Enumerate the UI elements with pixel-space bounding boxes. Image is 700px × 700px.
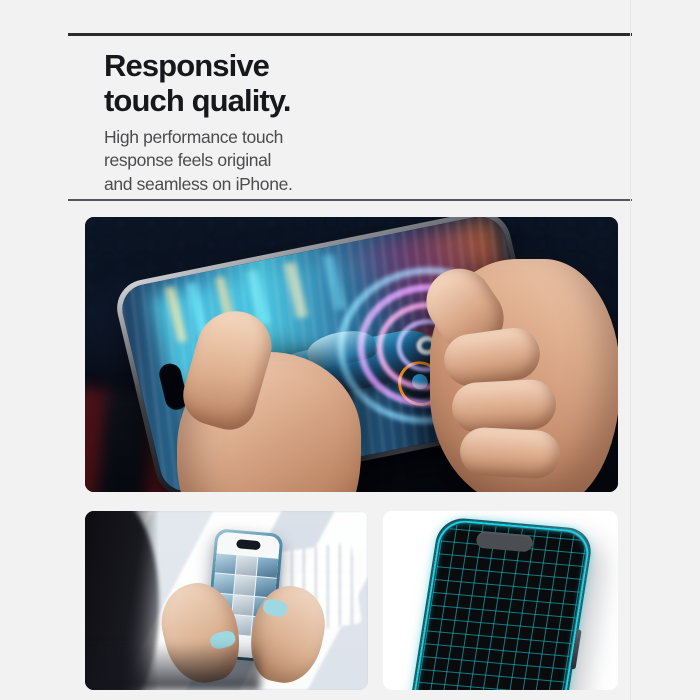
gallery-thumb: [235, 555, 257, 576]
page-title: Responsive touch quality.: [104, 48, 291, 119]
finger: [459, 426, 561, 479]
gallery-thumb: [256, 557, 278, 578]
phone-shell: [411, 516, 595, 690]
dynamic-island: [235, 539, 260, 550]
top-divider: [68, 33, 632, 36]
header-divider: [68, 199, 632, 201]
finger: [451, 378, 557, 433]
page-subtitle: High performance touch response feels or…: [104, 126, 292, 196]
tile-image-bed-browsing: [85, 511, 368, 690]
sensor-grid-phone: [411, 516, 595, 690]
gallery-thumb: [232, 595, 254, 616]
bed-bottom-shadow: [85, 633, 260, 690]
right-hand: [430, 259, 618, 492]
fingernail: [262, 598, 289, 618]
gallery-thumb: [234, 575, 256, 596]
tile-image-touch-sensor-grid: [383, 511, 618, 690]
gallery-thumb: [214, 553, 236, 574]
right-guide-line: [630, 0, 631, 700]
hero-image-gaming: [85, 217, 618, 492]
